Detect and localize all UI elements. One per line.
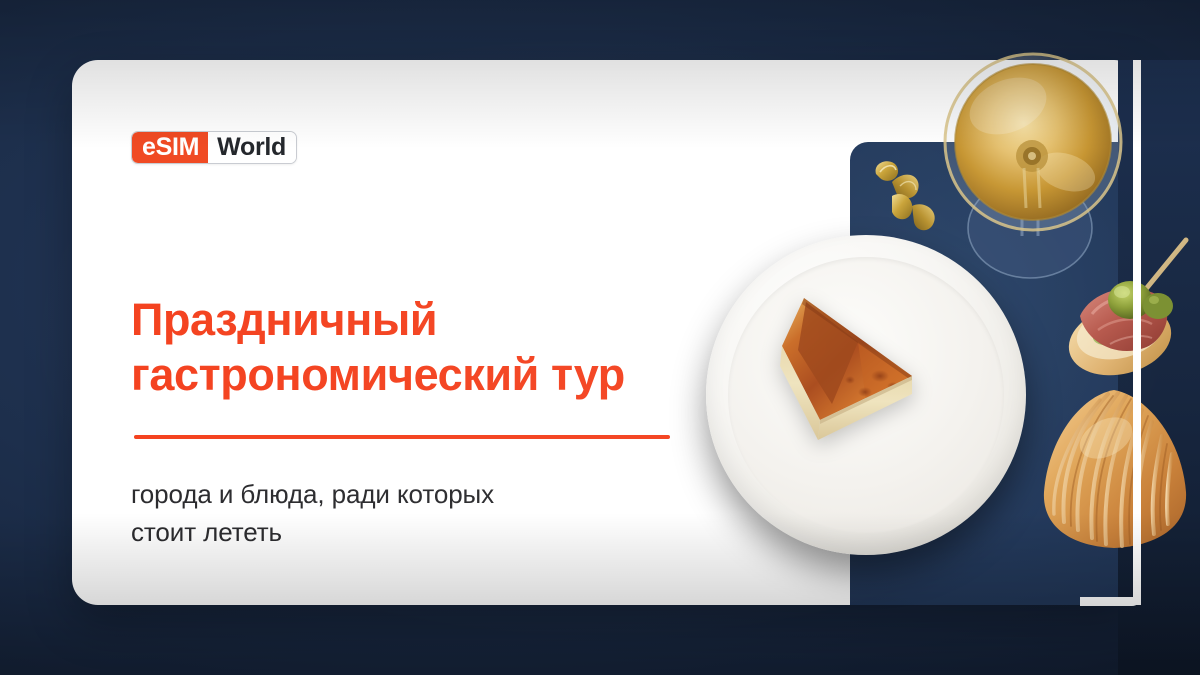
page-title-line-1: Праздничный	[131, 292, 731, 347]
sfogliatella-pastry-icon	[1030, 380, 1200, 558]
card-right-edge	[1133, 60, 1141, 605]
brand-logo[interactable]: eSIM World	[131, 131, 297, 164]
logo-text-world: World	[208, 132, 296, 163]
pintxo-icon	[1058, 232, 1200, 392]
page-subtitle-line-1: города и блюда, ради которых	[131, 475, 671, 513]
page-subtitle-line-2: стоит лететь	[131, 513, 671, 551]
pintxo-olive-second	[1143, 293, 1173, 319]
page-title-line-2: гастрономический тур	[131, 347, 731, 402]
ribbon-curl-1	[876, 161, 899, 181]
ribbon-curl-4	[912, 204, 935, 230]
cheesecake-slice-icon	[762, 280, 942, 452]
slide-root: eSIM World Праздничный гастрономический …	[0, 0, 1200, 675]
card-bottom-right-edge	[1080, 597, 1141, 606]
logo-mark-esim: eSIM	[132, 132, 208, 163]
page-subtitle: города и блюда, ради которых стоит летет…	[131, 475, 671, 551]
page-title: Праздничный гастрономический тур	[131, 292, 731, 402]
title-divider	[134, 435, 670, 439]
